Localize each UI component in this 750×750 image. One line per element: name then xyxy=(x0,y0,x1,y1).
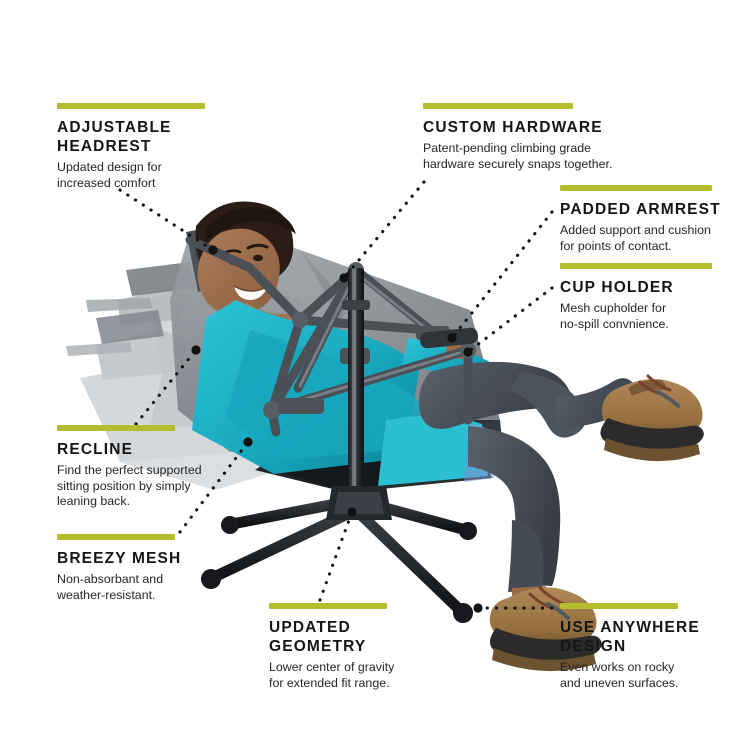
callout-custom-hardware: CUSTOM HARDWARE Patent-pending climbing … xyxy=(423,103,638,172)
callout-use-anywhere-design: USE ANYWHERE DESIGN Even works on rocky … xyxy=(560,603,750,691)
callout-heading: BREEZY MESH xyxy=(57,549,237,568)
callout-body: Even works on rocky and uneven surfaces. xyxy=(560,660,750,691)
accent-rule xyxy=(423,103,573,109)
callout-padded-armrest: PADDED ARMREST Added support and cushion… xyxy=(560,185,750,254)
callout-body: Lower center of gravity for extended fit… xyxy=(269,660,444,691)
accent-rule xyxy=(560,263,712,269)
callout-cup-holder: CUP HOLDER Mesh cupholder for no-spill c… xyxy=(560,263,750,332)
callout-breezy-mesh: BREEZY MESH Non-absorbant and weather-re… xyxy=(57,534,237,603)
callout-updated-geometry: UPDATED GEOMETRY Lower center of gravity… xyxy=(269,603,444,691)
callout-heading: PADDED ARMREST xyxy=(560,200,750,219)
leg-hub xyxy=(326,486,392,520)
callout-heading: USE ANYWHERE DESIGN xyxy=(560,618,750,656)
callout-heading: CUP HOLDER xyxy=(560,278,750,297)
callout-heading: RECLINE xyxy=(57,440,237,459)
callout-body: Non-absorbant and weather-resistant. xyxy=(57,572,237,603)
callout-heading: CUSTOM HARDWARE xyxy=(423,118,638,137)
infographic-canvas: ADJUSTABLE HEADREST Updated design for i… xyxy=(0,0,750,750)
callout-body: Updated design for increased comfort xyxy=(57,160,217,191)
callout-heading: UPDATED GEOMETRY xyxy=(269,618,444,656)
callout-adjustable-headrest: ADJUSTABLE HEADREST Updated design for i… xyxy=(57,103,217,191)
accent-rule xyxy=(560,185,712,191)
accent-rule xyxy=(57,425,175,431)
accent-rule xyxy=(57,534,175,540)
accent-rule xyxy=(269,603,387,609)
leader-armrest xyxy=(452,212,552,338)
callout-body: Added support and cushion for points of … xyxy=(560,223,750,254)
callout-body: Mesh cupholder for no-spill convnience. xyxy=(560,301,750,332)
callout-body: Find the perfect supported sitting posit… xyxy=(57,463,237,510)
leader-cup-holder xyxy=(468,288,552,352)
callout-recline: RECLINE Find the perfect supported sitti… xyxy=(57,425,237,510)
callout-heading: ADJUSTABLE HEADREST xyxy=(57,118,217,156)
accent-rule xyxy=(560,603,678,609)
callout-body: Patent-pending climbing grade hardware s… xyxy=(423,141,638,172)
accent-rule xyxy=(57,103,205,109)
